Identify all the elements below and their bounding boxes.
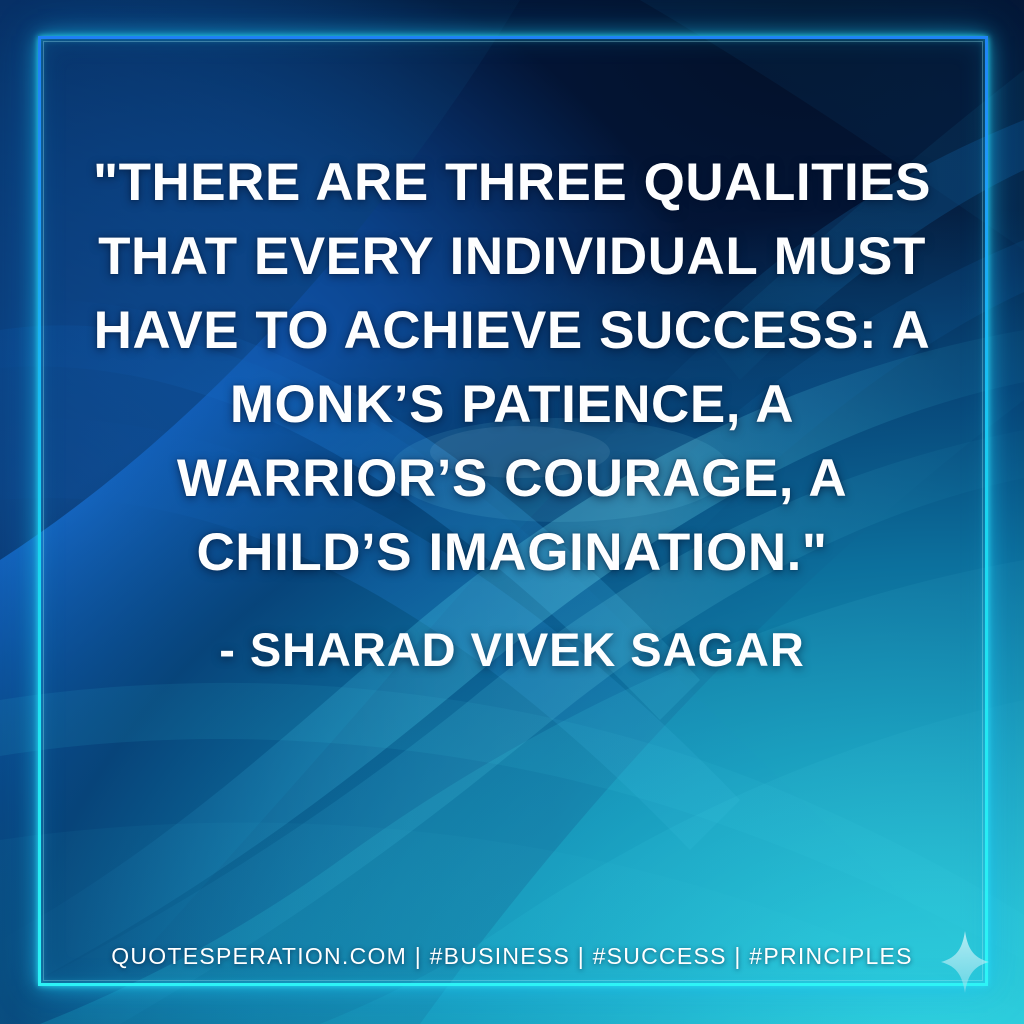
footer-credit-text: QUOTESPERATION.COM | #BUSINESS | #SUCCES…	[111, 943, 913, 970]
quote-text: "THERE ARE THREE QUALITIES THAT EVERY IN…	[78, 146, 946, 590]
quote-line: HAVE TO ACHIEVE SUCCESS: A	[78, 294, 946, 368]
footer: QUOTESPERATION.COM | #BUSINESS | #SUCCES…	[0, 943, 1024, 970]
quote-attribution: - SHARAD VIVEK SAGAR	[78, 620, 946, 680]
quote-line: CHILD’S IMAGINATION."	[78, 516, 946, 590]
quote-line: "THERE ARE THREE QUALITIES	[78, 146, 946, 220]
quote-line: WARRIOR’S COURAGE, A	[78, 442, 946, 516]
quote-card: "THERE ARE THREE QUALITIES THAT EVERY IN…	[0, 0, 1024, 1024]
quote-line: MONK’S PATIENCE, A	[78, 368, 946, 442]
quote-block: "THERE ARE THREE QUALITIES THAT EVERY IN…	[78, 146, 946, 590]
quote-line: THAT EVERY INDIVIDUAL MUST	[78, 220, 946, 294]
